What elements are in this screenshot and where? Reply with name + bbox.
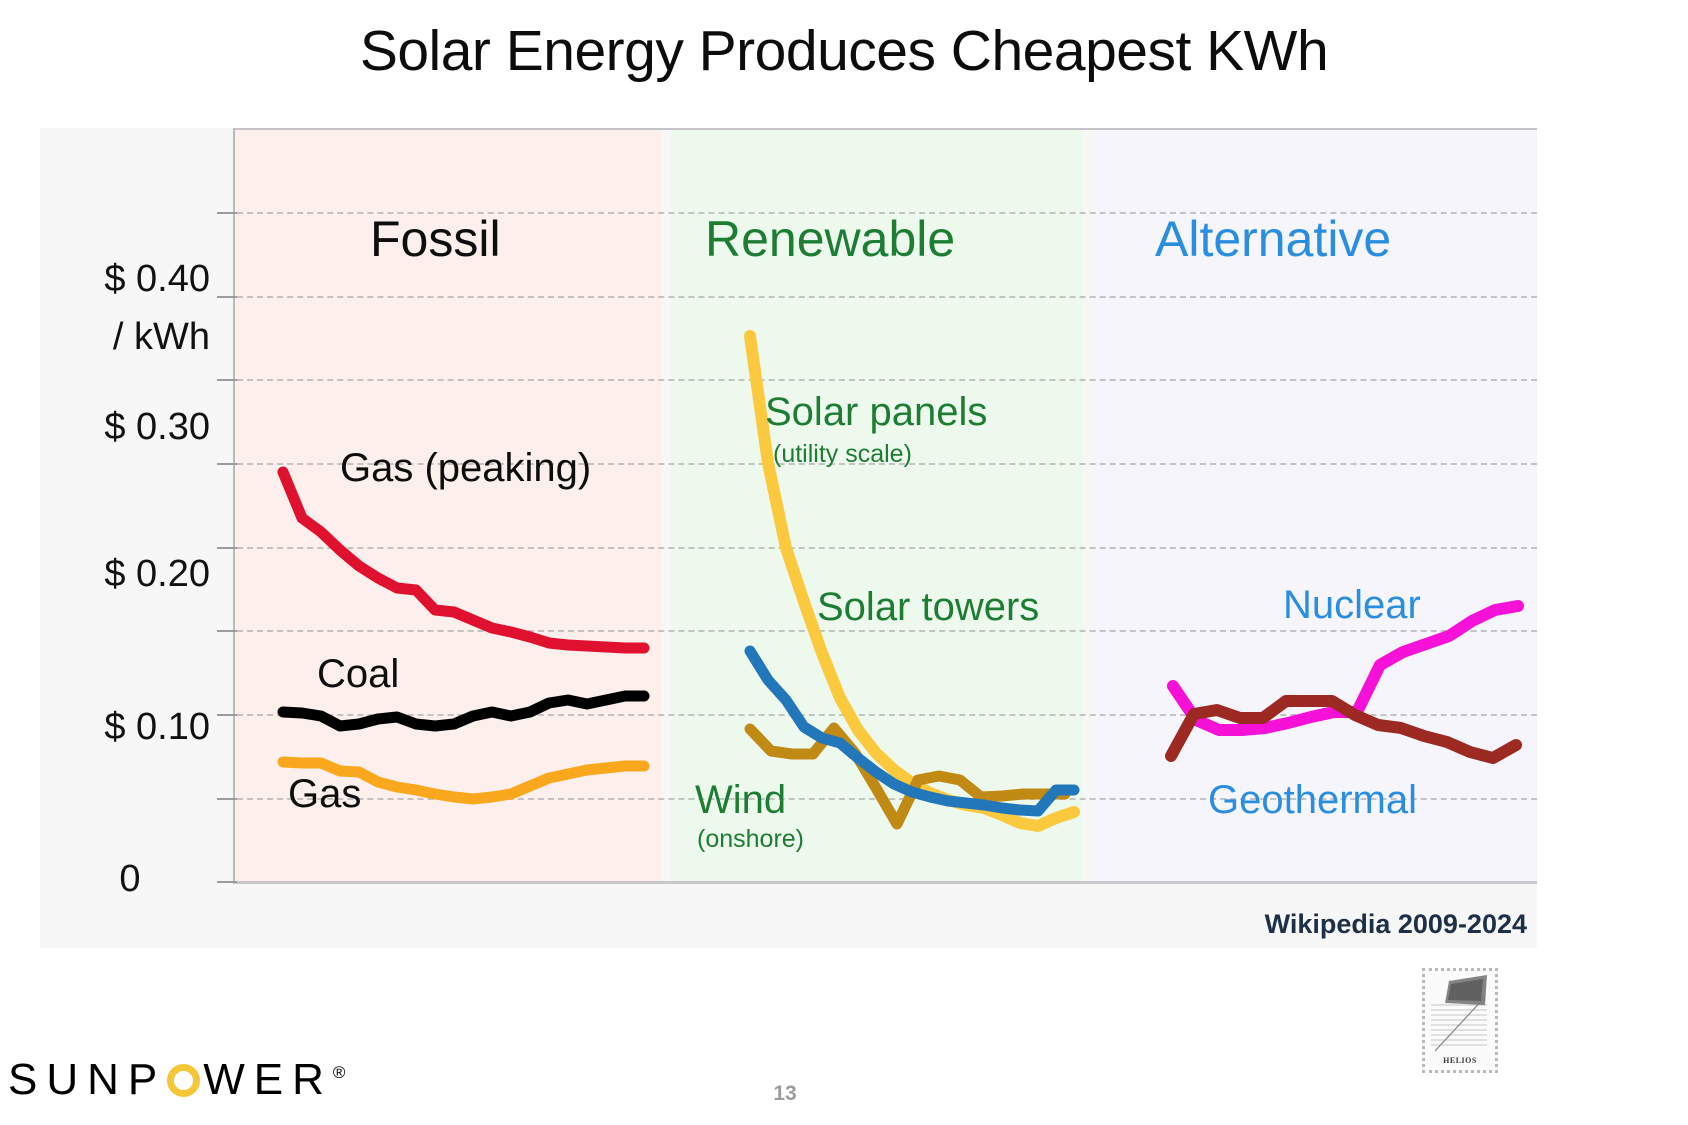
page-number: 13 [0,1082,1570,1106]
page-title: Solar Energy Produces Cheapest KWh [0,18,1688,84]
series-coal [283,696,644,726]
annotation-gas: Gas [288,772,361,817]
slide-root: Solar Energy Produces Cheapest KWh $ 0.4… [0,0,1688,1125]
annotation-gas-peaking: Gas (peaking) [340,446,591,491]
annotation-geothermal: Geothermal [1208,778,1417,823]
annotation-solar-panels: Solar panels [765,390,987,435]
series-gas-peaking [283,472,644,648]
annotation-wind-sub: (onshore) [697,825,804,854]
annotation-nuclear: Nuclear [1283,583,1421,628]
annotation-coal: Coal [317,652,399,697]
annotation-wind: Wind [695,778,786,823]
series-wind [750,651,1074,811]
helios-stamp-logo: HELIOS [1422,968,1498,1073]
annotation-solar-towers: Solar towers [817,585,1039,630]
source-note: Wikipedia 2009-2024 [1265,909,1527,940]
helios-stamp-caption: HELIOS [1425,1056,1495,1065]
annotation-solar-panels-sub: (utility scale) [773,440,912,469]
registered-trademark-icon: ® [333,1063,346,1082]
chart-container: $ 0.40 / kWh $ 0.30 $ 0.20 $ 0.10 0 Foss… [40,128,1537,948]
